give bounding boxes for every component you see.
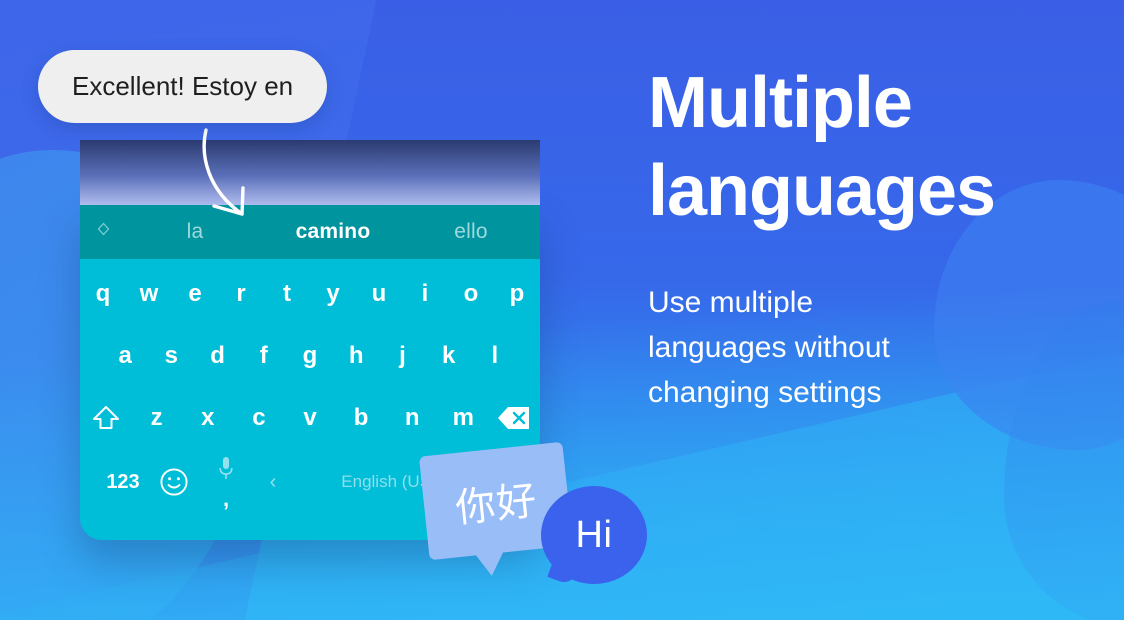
key-p[interactable]: p — [494, 282, 540, 306]
key-b[interactable]: b — [336, 406, 387, 430]
suggestion-item-2-active[interactable]: camino — [264, 220, 402, 244]
key-h[interactable]: h — [333, 344, 379, 368]
chat-bubble-english: Hi — [541, 486, 647, 584]
key-v[interactable]: v — [284, 406, 335, 430]
smiley-face-icon[interactable] — [150, 467, 198, 497]
subhead-line-3: changing settings — [648, 376, 882, 409]
key-t[interactable]: t — [264, 282, 310, 306]
headline-line-1: Multiple — [648, 63, 912, 143]
numeric-key[interactable]: 123 — [96, 471, 150, 494]
key-o[interactable]: o — [448, 282, 494, 306]
suggestion-item-1[interactable]: la — [126, 220, 264, 244]
key-y[interactable]: y — [310, 282, 356, 306]
suggestion-bar: la camino ello — [80, 205, 540, 259]
key-i[interactable]: i — [402, 282, 448, 306]
key-u[interactable]: u — [356, 282, 402, 306]
key-z[interactable]: z — [131, 406, 182, 430]
shift-arrow-icon[interactable] — [80, 404, 131, 432]
key-f[interactable]: f — [241, 344, 287, 368]
key-q[interactable]: q — [80, 282, 126, 306]
suggestion-item-3[interactable]: ello — [402, 220, 540, 244]
keyboard-row-2: a s d f g h j k l — [80, 325, 540, 387]
backspace-icon[interactable] — [489, 405, 540, 431]
headline-line-2: languages — [648, 151, 995, 231]
key-g[interactable]: g — [287, 344, 333, 368]
microphone-icon[interactable] — [218, 456, 234, 487]
subhead-line-2: languages without — [648, 331, 890, 364]
key-n[interactable]: n — [387, 406, 438, 430]
key-l[interactable]: l — [472, 344, 518, 368]
page-subtitle: Use multiple languages without changing … — [648, 280, 1068, 415]
chevron-expand-icon[interactable] — [80, 222, 126, 242]
key-w[interactable]: w — [126, 282, 172, 306]
key-j[interactable]: j — [379, 344, 425, 368]
key-d[interactable]: d — [194, 344, 240, 368]
promo-banner: la camino ello q w e r t y u i o p — [0, 0, 1124, 620]
keyboard-row-1: q w e r t y u i o p — [80, 263, 540, 325]
key-k[interactable]: k — [426, 344, 472, 368]
comma-key-label: , — [223, 488, 229, 510]
key-r[interactable]: r — [218, 282, 264, 306]
mic-comma-key[interactable]: , — [198, 452, 254, 512]
callout-text: Excellent! Estoy en — [72, 72, 293, 101]
key-e[interactable]: e — [172, 282, 218, 306]
prev-language-arrow[interactable]: ‹ — [260, 471, 286, 494]
phone-screen-area — [80, 140, 540, 205]
callout-bubble: Excellent! Estoy en — [38, 50, 327, 123]
key-x[interactable]: x — [182, 406, 233, 430]
marketing-copy: Multiple languages Use multiple language… — [648, 60, 1068, 415]
key-m[interactable]: m — [438, 406, 489, 430]
keyboard-row-3: z x c v b n m — [80, 387, 540, 449]
key-a[interactable]: a — [102, 344, 148, 368]
page-title: Multiple languages — [648, 60, 1068, 236]
subhead-line-1: Use multiple — [648, 286, 813, 319]
key-s[interactable]: s — [148, 344, 194, 368]
chat-bubble-english-text: Hi — [541, 486, 647, 584]
key-c[interactable]: c — [233, 406, 284, 430]
